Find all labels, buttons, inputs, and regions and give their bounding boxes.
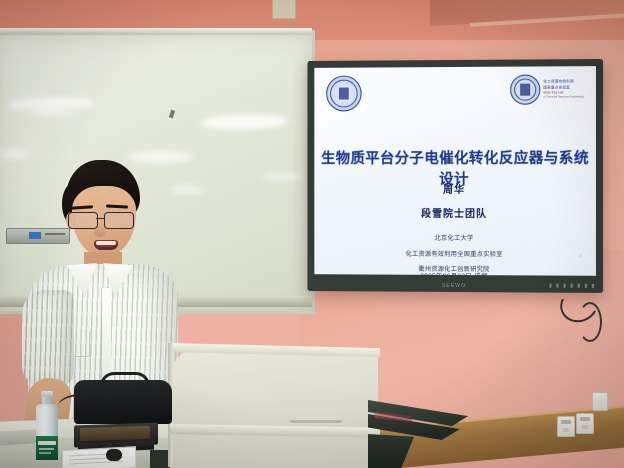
light-reflection [200, 114, 288, 130]
light-reflection [262, 173, 302, 181]
affiliation-line: 化工资源有效利用全国重点实验室 [314, 248, 596, 258]
lab-logo-text: 化工资源有效利用 国家重点实验室 State Key Lab of Chemic… [543, 80, 584, 99]
slide-team-name: 段雪院士团队 [314, 205, 596, 221]
affiliation-line: 北京化工大学 [314, 233, 596, 243]
whiteboard-mark [169, 110, 175, 119]
lab-name-red: State Key Lab [543, 91, 584, 95]
slide-affiliations: 北京化工大学 化工资源有效利用全国重点实验室 衢州资源化工创新研究院 [314, 233, 596, 274]
lab-name-cn-line2: 国家重点实验室 [543, 85, 584, 90]
dark-lectern-surface [368, 400, 468, 468]
state-key-lab-seal-logo: 化工资源有效利用 国家重点实验室 State Key Lab of Chemic… [510, 74, 584, 105]
wall-mounted-plate [272, 0, 296, 19]
whiteboard-frame-top [0, 28, 312, 35]
glasses-icon [68, 212, 140, 227]
light-switch-plate[interactable] [576, 413, 594, 434]
display-brand-label: SEEWO [442, 283, 467, 289]
laptop-inner-panel [80, 426, 150, 441]
podium [170, 345, 378, 468]
water-bottle [36, 391, 58, 459]
bottle-label [36, 436, 58, 460]
seal-icon [510, 74, 540, 104]
light-reflection [0, 149, 30, 159]
wall-socket-plate[interactable] [592, 392, 608, 411]
seal-icon [326, 76, 361, 112]
shirt-sleeve [22, 290, 74, 386]
lab-name-cn-line1: 化工资源有效利用 [543, 80, 584, 85]
light-reflection [28, 109, 74, 117]
presentation-slide: 化工资源有效利用 国家重点实验室 State Key Lab of Chemic… [314, 66, 596, 276]
slide-page-number: 1 [580, 253, 582, 258]
interactive-display-panel[interactable]: 化工资源有效利用 国家重点实验室 State Key Lab of Chemic… [307, 59, 603, 293]
mouse[interactable] [106, 449, 122, 461]
university-seal-logo [326, 76, 360, 110]
slide-presenter-name: 周华 [314, 181, 596, 196]
teeth [96, 241, 116, 245]
display-power-cable [560, 288, 604, 344]
paper-sheet [62, 446, 136, 468]
bag-handle [100, 372, 150, 389]
light-switch-plate[interactable] [557, 416, 575, 437]
lecture-room-photo: 化工资源有效利用 国家重点实验室 State Key Lab of Chemic… [0, 0, 624, 468]
podium-slot [290, 420, 342, 423]
bottle-body [36, 404, 58, 459]
lab-name-en: of Chemical Resource Engineering [543, 96, 584, 99]
